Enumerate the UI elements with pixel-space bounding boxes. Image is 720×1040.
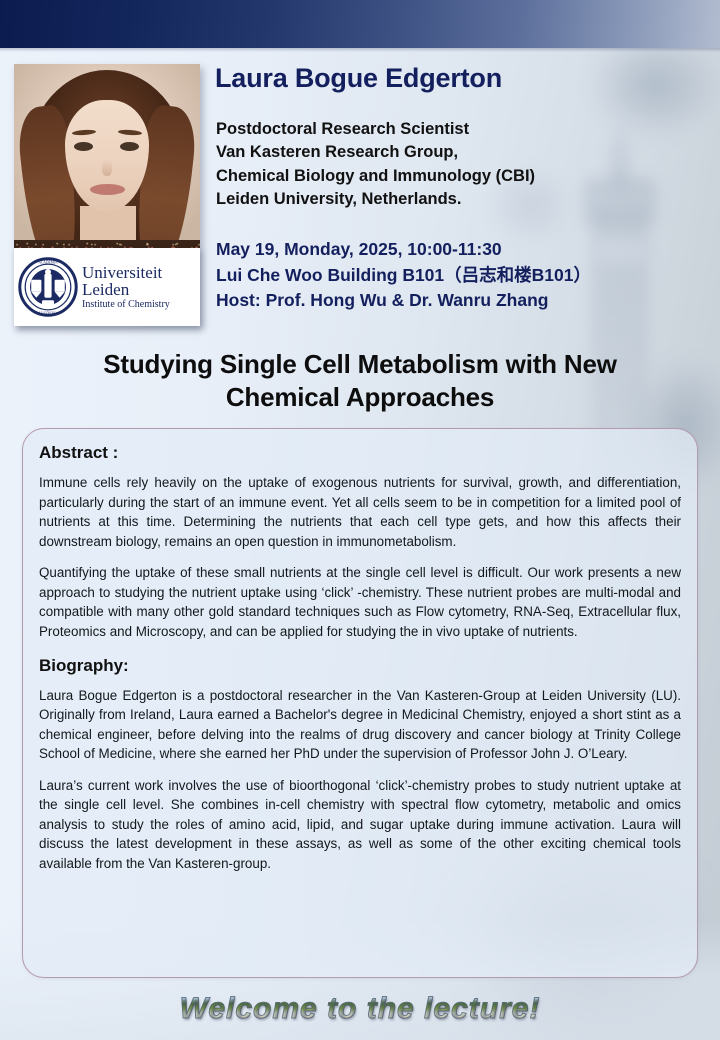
lecture-title-line-2: Chemical Approaches xyxy=(40,381,680,414)
event-host: Host: Prof. Hong Wu & Dr. Wanru Zhang xyxy=(216,288,591,314)
seminar-poster: ACADEMIA LVGDVNO Universiteit Leiden Ins… xyxy=(0,0,720,1040)
affiliation-line: Van Kasteren Research Group, xyxy=(216,141,535,164)
abstract-paragraph: Quantifying the uptake of these small nu… xyxy=(39,563,681,641)
logo-line-3: Institute of Chemistry xyxy=(82,300,170,310)
abstract-biography-panel: Abstract : Immune cells rely heavily on … xyxy=(22,428,698,978)
portrait-nose xyxy=(102,160,112,176)
biography-heading: Biography: xyxy=(39,656,681,676)
welcome-message: Welcome to the lecture! xyxy=(0,992,720,1026)
biography-paragraph: Laura Bogue Edgerton is a postdoctoral r… xyxy=(39,686,681,764)
leiden-university-logo: ACADEMIA LVGDVNO Universiteit Leiden Ins… xyxy=(14,248,200,326)
portrait-eye xyxy=(74,142,93,151)
logo-wordmark: Universiteit Leiden Institute of Chemist… xyxy=(82,264,170,311)
affiliation-line: Postdoctoral Research Scientist xyxy=(216,118,535,141)
affiliation-line: Chemical Biology and Immunology (CBI) xyxy=(216,165,535,188)
logo-line-1: Universiteit xyxy=(82,264,170,281)
abstract-heading: Abstract : xyxy=(39,443,681,463)
lecture-title: Studying Single Cell Metabolism with New… xyxy=(40,348,680,414)
svg-text:ACADEMIA: ACADEMIA xyxy=(38,261,58,265)
header-band-shadow xyxy=(0,48,720,52)
svg-text:LVGDVNO: LVGDVNO xyxy=(39,312,57,316)
lecture-title-line-1: Studying Single Cell Metabolism with New xyxy=(40,348,680,381)
event-details: May 19, Monday, 2025, 10:00-11:30 Lui Ch… xyxy=(216,237,591,314)
tower-window xyxy=(616,238,625,264)
university-seal-icon: ACADEMIA LVGDVNO xyxy=(18,257,78,317)
event-venue: Lui Che Woo Building B101（吕志和楼B101） xyxy=(216,263,591,289)
abstract-paragraph: Immune cells rely heavily on the uptake … xyxy=(39,473,681,551)
speaker-name: Laura Bogue Edgerton xyxy=(215,63,502,94)
biography-paragraph: Laura’s current work involves the use of… xyxy=(39,776,681,874)
portrait-eye xyxy=(120,142,139,151)
affiliation-line: Leiden University, Netherlands. xyxy=(216,188,535,211)
logo-line-2: Leiden xyxy=(82,281,170,298)
header-band xyxy=(0,0,720,48)
portrait-mouth xyxy=(90,184,125,195)
tower-window xyxy=(600,238,609,264)
event-datetime: May 19, Monday, 2025, 10:00-11:30 xyxy=(216,237,591,263)
speaker-affiliation: Postdoctoral Research Scientist Van Kast… xyxy=(216,118,535,212)
tower-window xyxy=(632,238,641,264)
